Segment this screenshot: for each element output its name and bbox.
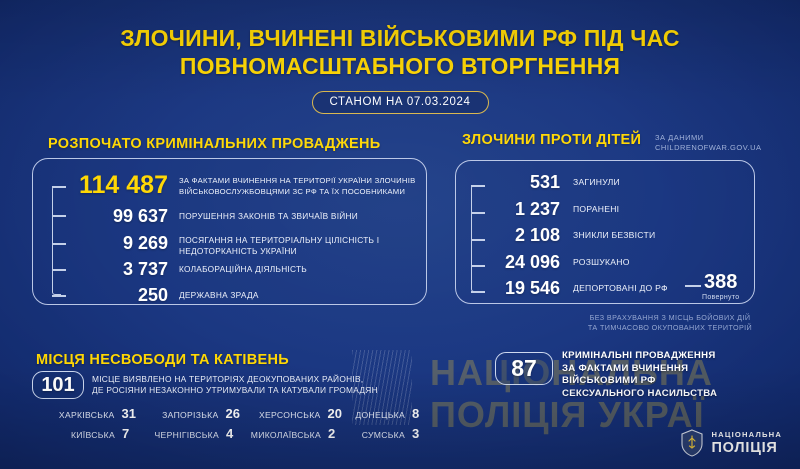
police-emblem-icon	[680, 429, 704, 457]
region-cell: Сумська 3	[342, 426, 426, 441]
children-value-3: 24 096	[487, 253, 560, 271]
region-name: Чернігівська	[155, 430, 219, 440]
children-source-line-1: ЗА ДАНИМИ	[655, 133, 762, 143]
header: ЗЛОЧИНИ, ВЧИНЕНІ ВІЙСЬКОВИМИ РФ ПІД ЧАС …	[0, 24, 800, 114]
table-row: 2 108 ЗНИКЛИ БЕЗВІСТИ	[487, 226, 747, 244]
table-row: 531 ЗАГИНУЛИ	[487, 173, 747, 191]
date-badge: СТАНОМ НА 07.03.2024	[312, 91, 489, 114]
children-value-2: 2 108	[487, 226, 560, 244]
table-row: 9 269 ПОСЯГАННЯ НА ТЕРИТОРІАЛЬНУ ЦІЛІСНІ…	[68, 234, 420, 256]
region-name: Запорізька	[162, 410, 218, 420]
proceedings-label-3: КОЛАБОРАЦІЙНА ДІЯЛЬНІСТЬ	[179, 260, 417, 275]
region-name: Київська	[71, 430, 115, 440]
children-tick-3	[471, 239, 485, 241]
children-label-3: РОЗШУКАНО	[573, 253, 630, 268]
region-value: 8	[412, 406, 426, 421]
proceedings-heading: РОЗПОЧАТО КРИМІНАЛЬНИХ ПРОВАДЖЕНЬ	[48, 136, 380, 152]
table-row: 3 737 КОЛАБОРАЦІЙНА ДІЯЛЬНІСТЬ	[68, 260, 420, 278]
sexual-violence-description: КРИМІНАЛЬНІ ПРОВАДЖЕННЯ ЗА ФАКТАМИ ВЧИНЕ…	[562, 350, 800, 400]
children-source: ЗА ДАНИМИ CHILDRENOFWAR.GOV.UA	[655, 133, 762, 152]
region-value: 3	[412, 426, 426, 441]
children-footnote-line-1: БЕЗ ВРАХУВАННЯ З МІСЦЬ БОЙОВИХ ДІЙ	[545, 313, 795, 323]
police-logo-bottom: ПОЛІЦІЯ	[711, 441, 782, 456]
region-cell: Херсонська 20	[240, 406, 342, 421]
children-value-4: 19 546	[487, 279, 560, 297]
proceedings-label-1: ПОРУШЕННЯ ЗАКОНІВ ТА ЗВИЧАЇВ ВІЙНИ	[179, 207, 417, 222]
region-name: Донецька	[355, 410, 405, 420]
police-logo-top: НАЦІОНАЛЬНА	[711, 431, 782, 439]
region-value: 26	[226, 406, 240, 421]
region-value: 4	[226, 426, 240, 441]
proceedings-label-0: ЗА ФАКТАМИ ВЧИНЕННЯ НА ТЕРИТОРІЇ УКРАЇНИ…	[179, 173, 417, 197]
proceedings-label-4: ДЕРЖАВНА ЗРАДА	[179, 286, 417, 301]
police-logo: НАЦІОНАЛЬНА ПОЛІЦІЯ	[680, 429, 782, 457]
region-value: 31	[122, 406, 136, 421]
children-footnote: БЕЗ ВРАХУВАННЯ З МІСЦЬ БОЙОВИХ ДІЙ ТА ТИ…	[545, 313, 795, 332]
proceedings-tick-1	[52, 186, 66, 188]
infographic-root: ЗЛОЧИНИ, ВЧИНЕНІ ВІЙСЬКОВИМИ РФ ПІД ЧАС …	[0, 0, 800, 469]
children-footnote-line-2: ТА ТИМЧАСОВО ОКУПОВАНИХ ТЕРИТОРІЙ	[545, 323, 795, 333]
detention-desc-line-2: ДЕ РОСІЯНИ НЕЗАКОННО УТРИМУВАЛИ ТА КАТУВ…	[92, 385, 378, 396]
region-name: Харківська	[59, 410, 115, 420]
region-value: 2	[328, 426, 342, 441]
sexual-violence-badge-value: 87	[511, 355, 537, 382]
table-row: 99 637 ПОРУШЕННЯ ЗАКОНІВ ТА ЗВИЧАЇВ ВІЙН…	[68, 207, 420, 225]
proceedings-value-3: 3 737	[68, 260, 168, 278]
children-returned-group: 388 Повернуто	[702, 272, 739, 301]
region-cell: Запорізька 26	[136, 406, 240, 421]
region-cell: Чернігівська 4	[136, 426, 240, 441]
proceedings-tick-3	[52, 243, 66, 245]
sexual-violence-count-badge: 87	[495, 352, 553, 385]
region-value: 7	[122, 426, 136, 441]
page-title-line-2: ПОВНОМАСШТАБНОГО ВТОРГНЕННЯ	[0, 52, 800, 80]
table-row: 114 487 ЗА ФАКТАМИ ВЧИНЕННЯ НА ТЕРИТОРІЇ…	[68, 173, 420, 198]
region-cell: Харківська 31	[30, 406, 136, 421]
detention-badge-value: 101	[41, 374, 74, 397]
sexual-violence-line-1: КРИМІНАЛЬНІ ПРОВАДЖЕННЯ	[562, 350, 800, 363]
children-returned-value: 388	[702, 272, 739, 292]
proceedings-value-4: 250	[68, 286, 168, 304]
table-row: 24 096 РОЗШУКАНО	[487, 253, 747, 271]
children-returned-label: Повернуто	[702, 294, 739, 301]
page-title-line-1: ЗЛОЧИНИ, ВЧИНЕНІ ВІЙСЬКОВИМИ РФ ПІД ЧАС	[0, 24, 800, 52]
detention-heading: МІСЦЯ НЕСВОБОДИ ТА КАТІВЕНЬ	[36, 352, 289, 368]
region-name: Сумська	[362, 430, 405, 440]
children-value-0: 531	[487, 173, 560, 191]
children-tick-1	[471, 185, 485, 187]
children-tick-2	[471, 212, 485, 214]
regions-table: Харківська 31 Запорізька 26 Херсонська 2…	[30, 406, 430, 446]
proceedings-value-0: 114 487	[68, 173, 168, 198]
children-returned-connector	[685, 285, 701, 287]
table-row: 250 ДЕРЖАВНА ЗРАДА	[68, 286, 420, 304]
sexual-violence-line-3: ВІЙСЬКОВИМИ РФ	[562, 375, 800, 388]
detention-description: МІСЦЕ ВИЯВЛЕНО НА ТЕРИТОРІЯХ ДЕОКУПОВАНИ…	[92, 374, 378, 396]
proceedings-tick-2	[52, 215, 66, 217]
region-value: 20	[328, 406, 342, 421]
police-logo-text: НАЦІОНАЛЬНА ПОЛІЦІЯ	[711, 431, 782, 455]
children-heading: ЗЛОЧИНИ ПРОТИ ДІТЕЙ	[462, 132, 641, 148]
regions-row-1: Харківська 31 Запорізька 26 Херсонська 2…	[30, 406, 430, 421]
table-row: 1 237 ПОРАНЕНІ	[487, 200, 747, 218]
proceedings-value-1: 99 637	[68, 207, 168, 225]
region-cell: Миколаївська 2	[240, 426, 342, 441]
children-tick-5	[471, 291, 485, 293]
proceedings-tick-4	[52, 269, 66, 271]
children-label-4: ДЕПОРТОВАНІ ДО РФ	[573, 279, 668, 294]
proceedings-label-2: ПОСЯГАННЯ НА ТЕРИТОРІАЛЬНУ ЦІЛІСНІСТЬ І …	[179, 234, 417, 256]
children-label-2: ЗНИКЛИ БЕЗВІСТИ	[573, 226, 655, 241]
children-tick-4	[471, 265, 485, 267]
children-label-0: ЗАГИНУЛИ	[573, 173, 620, 188]
region-name: Херсонська	[259, 410, 321, 420]
detention-count-badge: 101	[32, 371, 84, 399]
region-name: Миколаївська	[251, 430, 321, 440]
children-source-line-2: CHILDRENOFWAR.GOV.UA	[655, 143, 762, 153]
sexual-violence-line-4: СЕКСУАЛЬНОГО НАСИЛЬСТВА	[562, 388, 800, 401]
regions-row-2: Київська 7 Чернігівська 4 Миколаївська 2…	[30, 426, 430, 441]
region-cell: Київська 7	[30, 426, 136, 441]
proceedings-bracket	[52, 186, 61, 295]
proceedings-tick-5	[52, 295, 66, 297]
children-label-1: ПОРАНЕНІ	[573, 200, 619, 215]
detention-desc-line-1: МІСЦЕ ВИЯВЛЕНО НА ТЕРИТОРІЯХ ДЕОКУПОВАНИ…	[92, 374, 378, 385]
proceedings-value-2: 9 269	[68, 234, 168, 252]
region-cell: Донецька 8	[342, 406, 426, 421]
sexual-violence-line-2: ЗА ФАКТАМИ ВЧИНЕННЯ	[562, 363, 800, 376]
children-value-1: 1 237	[487, 200, 560, 218]
